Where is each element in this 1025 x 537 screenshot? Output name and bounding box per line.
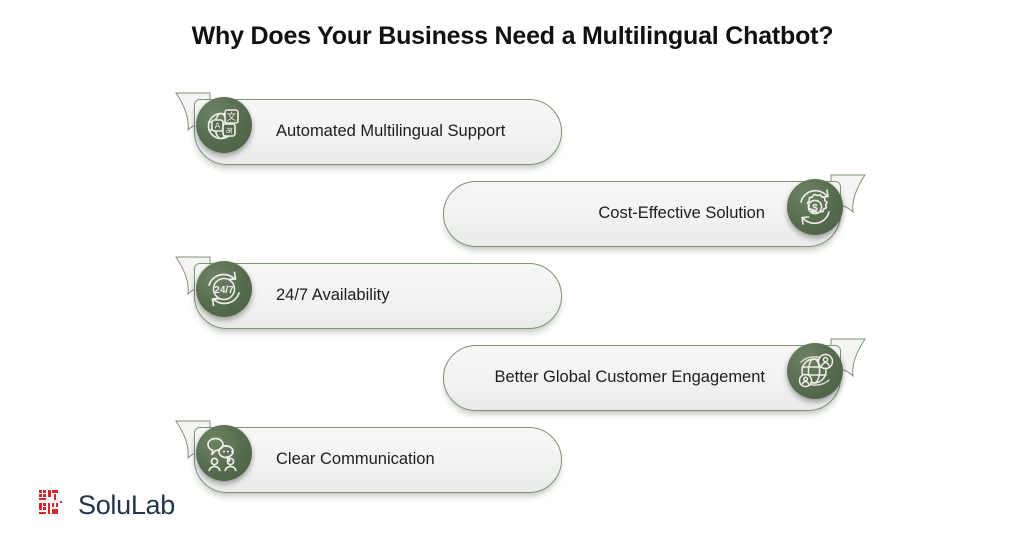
svg-text:A: A: [215, 121, 221, 131]
list-item-label: Cost-Effective Solution: [598, 204, 765, 223]
icon-text-247: 24/7: [214, 285, 234, 296]
list-item: Better Global Customer Engagement: [0, 338, 1025, 420]
solulab-qr-logo-icon: [38, 488, 68, 523]
clock-247-icon: 24/7: [196, 261, 252, 317]
brand-name: SoluLab: [78, 492, 175, 519]
svg-text:文: 文: [227, 111, 237, 123]
globe-users-icon: [787, 343, 843, 399]
svg-text:$: $: [812, 202, 818, 214]
benefit-list: A 文 अ Automated Multilingual Support: [0, 92, 1025, 502]
list-item-label: Clear Communication: [276, 450, 435, 469]
list-item-label: 24/7 Availability: [276, 286, 389, 305]
page-title: Why Does Your Business Need a Multilingu…: [0, 22, 1025, 51]
svg-text:अ: अ: [226, 127, 234, 137]
list-item-label: Better Global Customer Engagement: [494, 368, 765, 387]
chat-people-icon: [196, 425, 252, 481]
footer-brand: SoluLab: [38, 488, 175, 523]
list-item: $ Cost-Effective Solution: [0, 174, 1025, 256]
translate-globe-icon: A 文 अ: [196, 97, 252, 153]
list-item: A 文 अ Automated Multilingual Support: [0, 92, 1025, 174]
gear-dollar-icon: $: [787, 179, 843, 235]
list-item: 24/7 24/7 Availability: [0, 256, 1025, 338]
list-item-label: Automated Multilingual Support: [276, 122, 505, 141]
